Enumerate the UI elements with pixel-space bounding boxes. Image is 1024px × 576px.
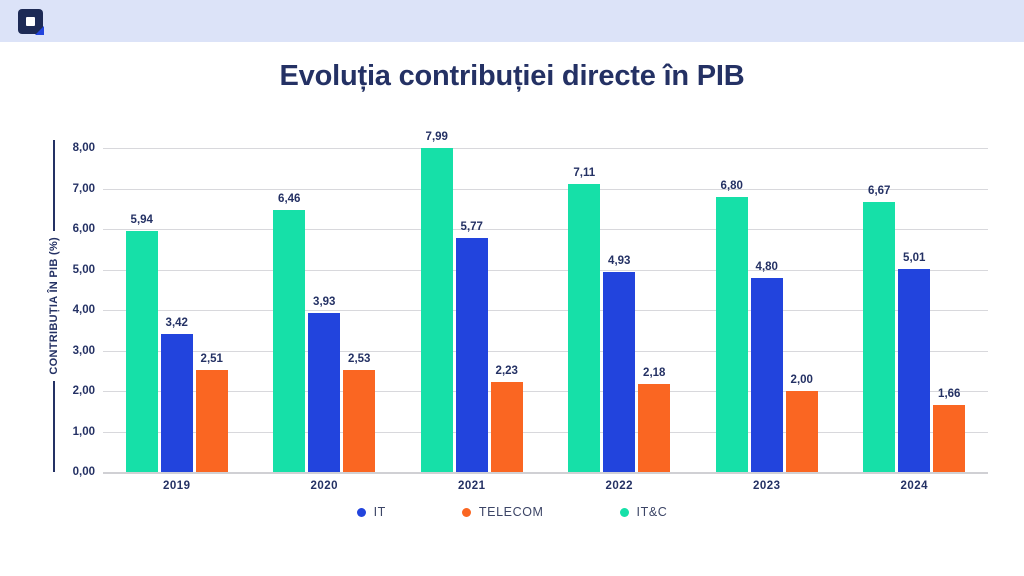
bar-itandc[interactable]: 7,11 [568, 184, 600, 472]
x-axis-tick-label: 2020 [264, 480, 384, 492]
bar-group: 6,463,932,53 [273, 148, 375, 472]
legend-swatch-icon [462, 508, 471, 517]
bar-it[interactable]: 4,93 [603, 272, 635, 472]
bar-it[interactable]: 3,93 [308, 313, 340, 472]
plot-area: 5,943,422,5120196,463,932,5320207,995,77… [103, 148, 988, 472]
legend-label: IT&C [637, 505, 668, 519]
bar-it[interactable]: 5,01 [898, 269, 930, 472]
bar-itandc[interactable]: 6,67 [863, 202, 895, 472]
bar-value-label: 1,66 [938, 388, 960, 400]
bar-value-label: 3,42 [166, 317, 188, 329]
bar-value-label: 2,53 [348, 353, 370, 365]
legend-swatch-icon [357, 508, 366, 517]
bar-itandc[interactable]: 7,99 [421, 148, 453, 472]
y-axis-tick-label: 8,00 [55, 142, 95, 154]
y-axis-tick-label: 7,00 [55, 183, 95, 195]
legend-item[interactable]: IT [357, 505, 386, 519]
bar-group: 6,675,011,66 [863, 148, 965, 472]
y-axis-tick-label: 5,00 [55, 264, 95, 276]
bar-itandc[interactable]: 5,94 [126, 231, 158, 472]
axis-baseline [103, 472, 988, 474]
legend-label: TELECOM [479, 505, 544, 519]
bar-value-label: 5,77 [461, 221, 483, 233]
bar-value-label: 6,67 [868, 185, 890, 197]
legend-label: IT [374, 505, 386, 519]
bar-telecom[interactable]: 2,18 [638, 384, 670, 472]
legend-item[interactable]: IT&C [620, 505, 668, 519]
bar-value-label: 7,11 [573, 167, 595, 179]
bar-it[interactable]: 4,80 [751, 278, 783, 472]
bar-group: 7,114,932,18 [568, 148, 670, 472]
bar-group: 6,804,802,00 [716, 148, 818, 472]
bar-telecom[interactable]: 2,53 [343, 370, 375, 472]
x-axis-tick-label: 2022 [559, 480, 679, 492]
bar-telecom[interactable]: 2,51 [196, 370, 228, 472]
x-axis-tick-label: 2024 [854, 480, 974, 492]
bar-value-label: 3,93 [313, 296, 335, 308]
bar-group: 7,995,772,23 [421, 148, 523, 472]
bar-value-label: 2,18 [643, 367, 665, 379]
y-axis-tick-label: 1,00 [55, 426, 95, 438]
bar-itandc[interactable]: 6,46 [273, 210, 305, 472]
y-axis-tick-label: 6,00 [55, 223, 95, 235]
y-axis-tick-label: 0,00 [55, 466, 95, 478]
bar-group: 5,943,422,51 [126, 148, 228, 472]
bar-value-label: 6,80 [721, 180, 743, 192]
bar-value-label: 2,00 [791, 374, 813, 386]
bar-telecom[interactable]: 2,00 [786, 391, 818, 472]
y-axis-tick-label: 2,00 [55, 385, 95, 397]
bar-chart: CONTRIBUȚIA ÎN PIB (%) 8,007,006,005,004… [0, 0, 1024, 576]
bar-it[interactable]: 3,42 [161, 334, 193, 473]
bar-telecom[interactable]: 2,23 [491, 382, 523, 472]
bar-value-label: 5,94 [131, 214, 153, 226]
y-axis-tick-label: 3,00 [55, 345, 95, 357]
bar-value-label: 6,46 [278, 193, 300, 205]
bar-it[interactable]: 5,77 [456, 238, 488, 472]
y-axis-tick-label: 4,00 [55, 304, 95, 316]
bar-value-label: 2,23 [496, 365, 518, 377]
chart-legend: ITTELECOMIT&C [0, 505, 1024, 519]
bar-value-label: 4,93 [608, 255, 630, 267]
legend-swatch-icon [620, 508, 629, 517]
bar-telecom[interactable]: 1,66 [933, 405, 965, 472]
x-axis-tick-label: 2021 [412, 480, 532, 492]
x-axis-tick-label: 2023 [707, 480, 827, 492]
bar-value-label: 7,99 [426, 131, 448, 143]
bar-value-label: 5,01 [903, 252, 925, 264]
bar-value-label: 2,51 [201, 353, 223, 365]
bar-value-label: 4,80 [756, 261, 778, 273]
bar-itandc[interactable]: 6,80 [716, 197, 748, 472]
legend-item[interactable]: TELECOM [462, 505, 544, 519]
x-axis-tick-label: 2019 [117, 480, 237, 492]
